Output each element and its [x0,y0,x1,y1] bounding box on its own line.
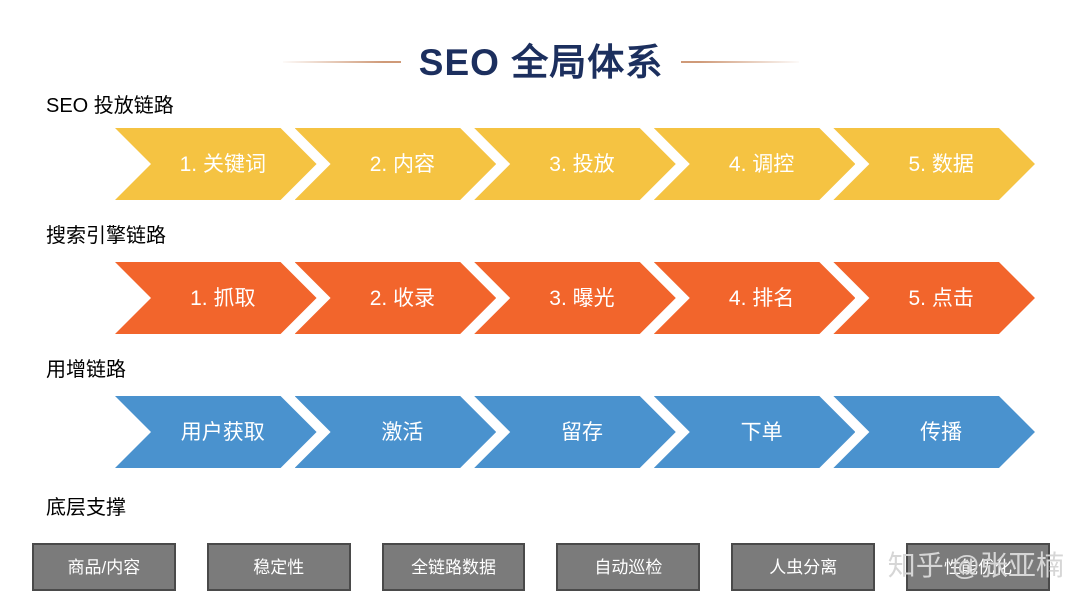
chevron-step[interactable]: 激活 [295,396,497,468]
chevron-step[interactable]: 5. 数据 [833,128,1035,200]
support-row: 底层支撑 商品/内容 稳定性 全链路数据 自动巡检 人虫分离 性能优化 [0,498,1082,606]
support-track: 商品/内容 稳定性 全链路数据 自动巡检 人虫分离 性能优化 [32,543,1050,591]
chevron-step-label: 用户获取 [167,422,265,443]
page-title-bar: SEO 全局体系 [0,34,1082,90]
row-label-seo: SEO 投放链路 [46,96,174,116]
chevron-step-label: 2. 收录 [356,288,435,309]
row-label-user-growth: 用增链路 [46,360,126,380]
chevron-step[interactable]: 传播 [833,396,1035,468]
row-label-support: 底层支撑 [46,498,126,518]
support-box[interactable]: 自动巡检 [556,543,700,591]
chevron-step-label: 传播 [906,422,962,443]
chevron-step-label: 1. 关键词 [166,154,266,175]
support-box[interactable]: 商品/内容 [32,543,176,591]
chevron-step-label: 3. 投放 [535,154,614,175]
chevron-step[interactable]: 3. 投放 [474,128,676,200]
support-box-label: 自动巡检 [594,559,662,576]
chevron-step-label: 留存 [547,422,603,443]
chevron-step-label: 3. 曝光 [535,288,614,309]
support-box[interactable]: 性能优化 [906,543,1050,591]
chevron-track-user-growth: 用户获取 激活 留存 下单 传播 [115,396,1035,468]
chevron-step-label: 4. 排名 [715,288,794,309]
support-box-label: 性能优化 [944,559,1012,576]
chevron-step[interactable]: 1. 关键词 [115,128,317,200]
support-box-label: 商品/内容 [68,559,141,576]
chevron-step-label: 1. 抓取 [176,288,255,309]
chevron-step-label: 4. 调控 [715,154,794,175]
support-box[interactable]: 稳定性 [207,543,351,591]
chevron-step[interactable]: 4. 调控 [654,128,856,200]
chevron-step-label: 下单 [727,422,783,443]
chevron-step-label: 5. 数据 [894,154,973,175]
chevron-step[interactable]: 用户获取 [115,396,317,468]
chevron-step[interactable]: 1. 抓取 [115,262,317,334]
process-row-user-growth: 用增链路 用户获取 激活 留存 下单 传播 [0,360,1082,475]
support-box-label: 全链路数据 [411,559,496,576]
chevron-step[interactable]: 4. 排名 [654,262,856,334]
chevron-step[interactable]: 下单 [654,396,856,468]
chevron-step[interactable]: 2. 收录 [295,262,497,334]
chevron-track-search-engine: 1. 抓取 2. 收录 3. 曝光 4. 排名 5. 点击 [115,262,1035,334]
title-rule-left [283,61,401,63]
process-row-seo: SEO 投放链路 1. 关键词 2. 内容 3. 投放 4. 调控 5. 数据 [0,96,1082,206]
support-box-label: 人虫分离 [769,559,837,576]
support-box[interactable]: 全链路数据 [382,543,526,591]
chevron-step[interactable]: 2. 内容 [295,128,497,200]
chevron-track-seo: 1. 关键词 2. 内容 3. 投放 4. 调控 5. 数据 [115,128,1035,200]
support-box-label: 稳定性 [253,559,304,576]
chevron-step-label: 5. 点击 [894,288,973,309]
process-row-search-engine: 搜索引擎链路 1. 抓取 2. 收录 3. 曝光 4. 排名 5. 点击 [0,226,1082,341]
support-box[interactable]: 人虫分离 [731,543,875,591]
chevron-step-label: 激活 [367,422,423,443]
chevron-step-label: 2. 内容 [356,154,435,175]
chevron-step[interactable]: 5. 点击 [833,262,1035,334]
row-label-search-engine: 搜索引擎链路 [46,226,166,246]
page-title: SEO 全局体系 [419,44,663,81]
chevron-step[interactable]: 3. 曝光 [474,262,676,334]
title-rule-right [681,61,799,63]
chevron-step[interactable]: 留存 [474,396,676,468]
